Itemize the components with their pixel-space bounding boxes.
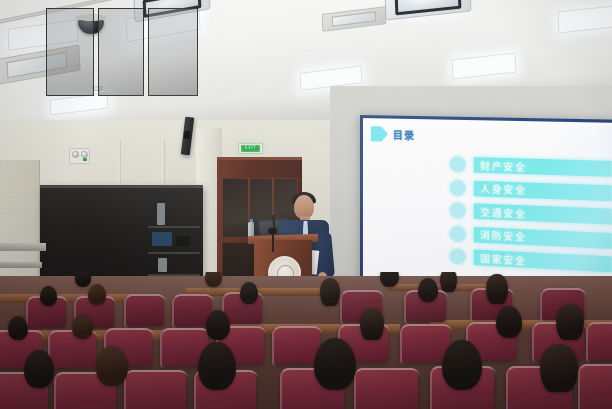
cabinet-glass-door	[98, 8, 144, 96]
circle-bullet-icon	[450, 248, 466, 264]
toc-bar: 国家安全	[474, 250, 612, 273]
auditorium-seat	[578, 364, 612, 409]
cabinet-shelf	[148, 252, 200, 254]
audience-head	[320, 278, 340, 306]
microphone-stand	[272, 232, 274, 252]
slide-toc-list: 财产安全 人身安全 交通安全	[450, 156, 612, 272]
exit-sign-label: EXIT	[241, 145, 260, 152]
toc-item-label: 国家安全	[480, 250, 527, 267]
toc-item: 人身安全	[450, 179, 612, 200]
audience-head	[440, 272, 457, 292]
cabinet-equipment	[157, 203, 165, 225]
audience-head	[198, 342, 236, 390]
audience-area	[0, 272, 612, 409]
audience-head	[442, 340, 482, 390]
exit-sign: EXIT	[238, 143, 263, 154]
emergency-lamp	[72, 151, 79, 158]
toc-item-label: 财产安全	[480, 158, 527, 174]
toc-item: 消防安全	[450, 225, 612, 248]
audience-head	[8, 316, 28, 340]
lecture-hall-photo: EXIT 目录 财产安全	[0, 0, 612, 409]
auditorium-seat	[354, 368, 418, 409]
toc-item: 交通安全	[450, 202, 612, 224]
side-shelf	[0, 262, 42, 268]
chevron-right-icon	[371, 126, 388, 141]
audience-head	[496, 306, 522, 338]
auditorium-seat	[124, 294, 164, 326]
cabinet-glass-door	[148, 8, 198, 96]
toc-bar: 交通安全	[474, 203, 612, 224]
audience-head	[206, 310, 230, 340]
toc-bar: 财产安全	[474, 157, 612, 177]
audience-head	[205, 272, 222, 287]
audience-head	[240, 282, 258, 304]
audience-head	[24, 350, 54, 388]
emergency-light-icon	[69, 148, 90, 164]
slide-heading-row: 目录	[371, 126, 415, 142]
audience-head	[75, 272, 91, 287]
audience-head	[540, 344, 578, 392]
auditorium-seat	[272, 326, 320, 364]
auditorium-seat	[124, 370, 186, 409]
toc-item: 财产安全	[450, 156, 612, 176]
circle-bullet-icon	[450, 225, 466, 241]
toc-item-label: 人身安全	[480, 181, 527, 197]
toc-item-label: 交通安全	[480, 204, 527, 220]
toc-bar: 消防安全	[474, 226, 612, 248]
emergency-lamp	[81, 151, 88, 158]
audience-head	[72, 314, 93, 339]
slide-heading: 目录	[393, 127, 415, 143]
audience-head	[40, 286, 57, 306]
toc-bar: 人身安全	[474, 180, 612, 200]
circle-bullet-icon	[450, 156, 466, 172]
audience-head	[418, 278, 438, 302]
side-shelf	[0, 243, 46, 251]
audience-head	[96, 346, 128, 386]
cabinet-equipment	[176, 236, 190, 246]
audience-head	[360, 308, 384, 340]
cabinet-equipment	[158, 258, 167, 272]
cabinet-glass-door	[46, 8, 94, 96]
emergency-led-indicator	[83, 158, 87, 161]
audience-head	[88, 284, 106, 305]
cabinet-shelf	[148, 226, 200, 228]
microphone-icon	[268, 228, 277, 234]
auditorium-seat	[586, 322, 612, 360]
wall-panel	[0, 160, 40, 290]
audience-head	[556, 304, 584, 340]
circle-bullet-icon	[450, 202, 466, 218]
cabinet-equipment	[152, 232, 172, 246]
circle-bullet-icon	[450, 179, 466, 195]
toc-item-label: 消防安全	[480, 227, 527, 244]
audience-head	[486, 274, 508, 304]
audience-head	[314, 338, 356, 390]
toc-item: 国家安全	[450, 248, 612, 272]
